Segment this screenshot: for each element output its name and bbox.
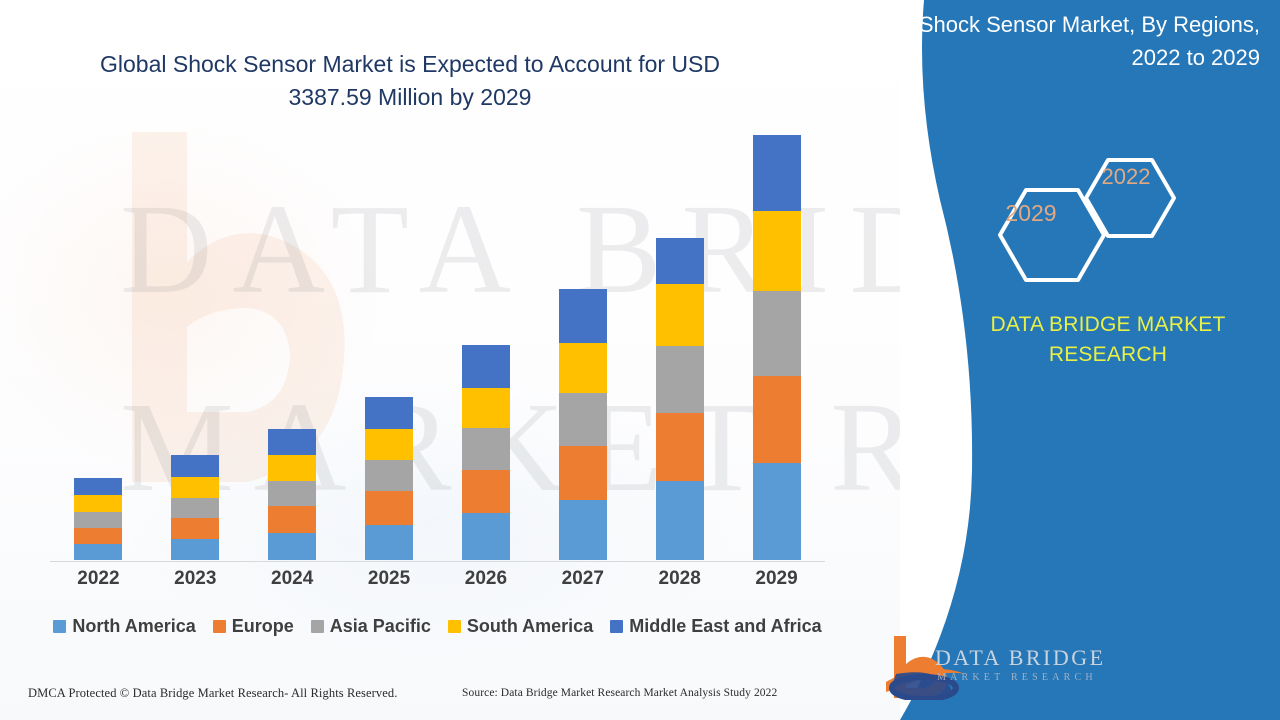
bar-segment	[559, 343, 607, 393]
infographic-canvas: DATA BRIDGE MARKET RESEARCH Global Shock…	[0, 0, 1280, 720]
bar-segment	[559, 289, 607, 343]
bar-column-2026	[438, 170, 534, 560]
bar-segment	[268, 506, 316, 533]
bar-segment	[365, 397, 413, 429]
bar-group	[50, 170, 825, 560]
hexagon-2022-label: 2022	[1078, 164, 1174, 190]
legend-swatch-icon	[448, 620, 461, 633]
bar-segment	[171, 539, 219, 560]
bar-segment	[365, 525, 413, 560]
bar-segment	[656, 481, 704, 560]
brand-line-2: RESEARCH	[1049, 343, 1167, 366]
bar-segment	[74, 544, 122, 560]
bar-segment	[753, 291, 801, 376]
logo-text-primary: DATA BRIDGE	[935, 645, 1106, 671]
bar-column-2027	[535, 170, 631, 560]
bar-segment	[462, 428, 510, 470]
bar-segment	[74, 495, 122, 512]
x-axis-label-2029: 2029	[729, 568, 825, 590]
bar-segment	[753, 211, 801, 291]
x-axis-label-2022: 2022	[50, 568, 146, 590]
bar-segment	[365, 491, 413, 525]
bar-segment	[753, 376, 801, 463]
bar-segment	[171, 518, 219, 539]
bar-column-2024	[244, 170, 340, 560]
bar-segment	[559, 393, 607, 446]
legend-item[interactable]: South America	[448, 616, 593, 637]
plot-area	[50, 170, 825, 562]
stacked-bar	[656, 238, 704, 560]
x-axis-label-2027: 2027	[535, 568, 631, 590]
legend-label: South America	[467, 616, 593, 637]
bar-segment	[753, 463, 801, 560]
legend-label: Asia Pacific	[330, 616, 431, 637]
bar-segment	[171, 498, 219, 518]
bar-column-2025	[341, 170, 437, 560]
bar-segment	[74, 512, 122, 528]
x-axis-label-2025: 2025	[341, 568, 437, 590]
x-axis-label-2028: 2028	[632, 568, 728, 590]
stacked-bar	[171, 455, 219, 560]
bar-segment	[462, 470, 510, 513]
legend-swatch-icon	[311, 620, 324, 633]
brand-name: DATA BRIDGE MARKET RESEARCH	[958, 310, 1258, 371]
x-axis-labels: 20222023202420252026202720282029	[50, 568, 825, 590]
bar-segment	[462, 513, 510, 560]
page-title: Global Shock Sensor Market is Expected t…	[60, 48, 760, 115]
logo-text-secondary: MARKET RESEARCH	[937, 672, 1097, 683]
bar-column-2029	[729, 170, 825, 560]
x-axis-label-2023: 2023	[147, 568, 243, 590]
stacked-bar	[74, 478, 122, 560]
legend-item[interactable]: Europe	[213, 616, 294, 637]
legend-label: North America	[72, 616, 195, 637]
footer-copyright: DMCA Protected © Data Bridge Market Rese…	[28, 686, 398, 701]
bar-segment	[559, 500, 607, 560]
chart-panel: DATA BRIDGE MARKET RESEARCH Global Shock…	[0, 0, 900, 720]
x-axis-label-2026: 2026	[438, 568, 534, 590]
x-axis-label-2024: 2024	[244, 568, 340, 590]
bar-segment	[268, 455, 316, 481]
brand-line-1: DATA BRIDGE MARKET	[990, 313, 1225, 336]
stacked-bar	[268, 429, 316, 560]
bar-segment	[171, 477, 219, 498]
bar-column-2023	[147, 170, 243, 560]
bar-column-2022	[50, 170, 146, 560]
bar-segment	[268, 429, 316, 455]
brand-panel-title: Global Shock Sensor Market, By Regions, …	[845, 8, 1260, 74]
stacked-bar	[559, 289, 607, 560]
bar-segment	[171, 455, 219, 477]
bar-segment	[74, 528, 122, 544]
x-axis-line	[50, 561, 825, 563]
bar-segment	[753, 135, 801, 211]
legend-swatch-icon	[213, 620, 226, 633]
legend-label: Middle East and Africa	[629, 616, 821, 637]
legend-swatch-icon	[53, 620, 66, 633]
legend-item[interactable]: North America	[53, 616, 195, 637]
bar-segment	[656, 346, 704, 413]
chart-legend: North AmericaEuropeAsia PacificSouth Ame…	[50, 616, 825, 637]
footer-source: Source: Data Bridge Market Research Mark…	[462, 687, 777, 699]
legend-item[interactable]: Asia Pacific	[311, 616, 431, 637]
legend-label: Europe	[232, 616, 294, 637]
legend-swatch-icon	[610, 620, 623, 633]
stacked-bar	[365, 397, 413, 560]
bar-segment	[365, 429, 413, 460]
legend-item[interactable]: Middle East and Africa	[610, 616, 821, 637]
stacked-bar	[462, 345, 510, 560]
bar-segment	[268, 533, 316, 560]
bar-segment	[365, 460, 413, 491]
bar-column-2028	[632, 170, 728, 560]
bar-segment	[656, 238, 704, 284]
stacked-bar	[753, 135, 801, 560]
bar-segment	[656, 284, 704, 346]
bar-segment	[559, 446, 607, 500]
hexagon-badges: 2029 2022	[960, 140, 1210, 305]
hexagon-2029-label: 2029	[976, 200, 1086, 227]
bar-segment	[462, 345, 510, 388]
bar-segment	[656, 413, 704, 481]
bar-segment	[74, 478, 122, 495]
bar-segment	[462, 388, 510, 428]
bar-segment	[268, 481, 316, 506]
